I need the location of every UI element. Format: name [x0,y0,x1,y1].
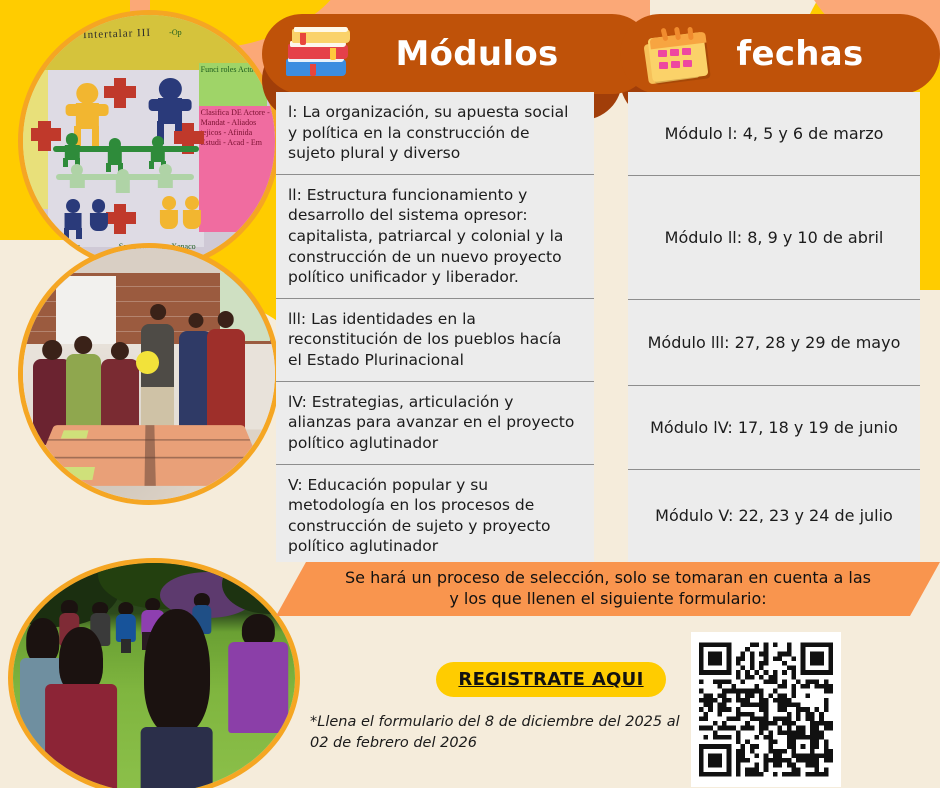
selection-banner-text: Se hará un proceso de selección, solo se… [298,568,918,610]
poster-title-text: Intertalar III [83,26,151,40]
poster-note-top-right: -Op [169,28,181,38]
fechas-header-title: fechas [714,34,940,74]
cutout-red-2b [38,121,51,151]
fecha-row: Módulo V: 22, 23 y 24 de julio [628,470,920,562]
workshop-floor-paper [29,425,269,485]
outdoor-person-near-center [134,609,219,788]
modulos-column: l: La organización, su apuesta social y … [276,92,594,562]
cutout-green-1 [58,133,86,166]
fechas-header: fechas [620,14,940,94]
cutout-green-2 [101,138,129,171]
modulos-header-title: Módulos [356,34,652,74]
fecha-row: Módulo lll: 27, 28 y 29 de mayo [628,300,920,386]
modulo-row: l: La organización, su apuesta social y … [276,92,594,175]
fecha-row: Módulo lV: 17, 18 y 19 de junio [628,386,920,470]
cutout-pale-1 [63,164,91,194]
poster-green-note-text: Funci roles Actore [201,65,269,75]
modulos-header: Módulos [262,14,652,94]
outdoor-person-near-right [227,614,289,734]
cutout-pale-3 [152,164,180,194]
photo-circle-outdoors [8,558,300,788]
poster-pink-note-text: Clasifica DE Actore - Mandat - Aliados t… [201,108,274,148]
cutout-red-4b [114,204,127,234]
photo-poster-cutouts: Intertalar III Funci roles Actore Clasif… [18,10,280,272]
modulo-row: lll: Las identidades en la reconstitució… [276,299,594,382]
books-icon [284,23,356,85]
cutout-yellow-pair-2 [177,196,207,236]
selection-banner: Se hará un proceso de selección, solo se… [276,562,940,616]
cutout-pale-2 [109,169,137,199]
qr-code-container[interactable] [691,632,841,787]
modulo-row: ll: Estructura funcionamiento y desarrol… [276,175,594,299]
form-deadline-note: *Llena el formulario del 8 de diciembre … [310,712,690,754]
cutout-red-1b [114,78,127,108]
qr-code-image[interactable] [699,640,833,779]
poster-canvas: Intertalar III Funci roles Actore Clasif… [0,0,940,788]
outdoor-person-near-left-2 [44,627,117,788]
modulo-row: V: Educación popular y su metodología en… [276,465,594,567]
workshop-whiteboard [56,276,116,344]
workshop-flowers [136,351,159,374]
photo-workshop [18,243,280,505]
registrate-aqui-label: REGISTRATE AQUI [458,669,643,690]
fecha-row: Módulo ll: 8, 9 y 10 de abril [628,176,920,300]
cutout-navy-pair-2 [83,199,113,239]
registrate-aqui-button[interactable]: REGISTRATE AQUI [436,662,666,697]
calendar-icon [642,23,714,85]
fecha-row: Módulo l: 4, 5 y 6 de marzo [628,92,920,176]
fechas-column: Módulo l: 4, 5 y 6 de marzo Módulo ll: 8… [628,92,920,562]
modulo-row: lV: Estrategias, articulación y alianzas… [276,382,594,465]
